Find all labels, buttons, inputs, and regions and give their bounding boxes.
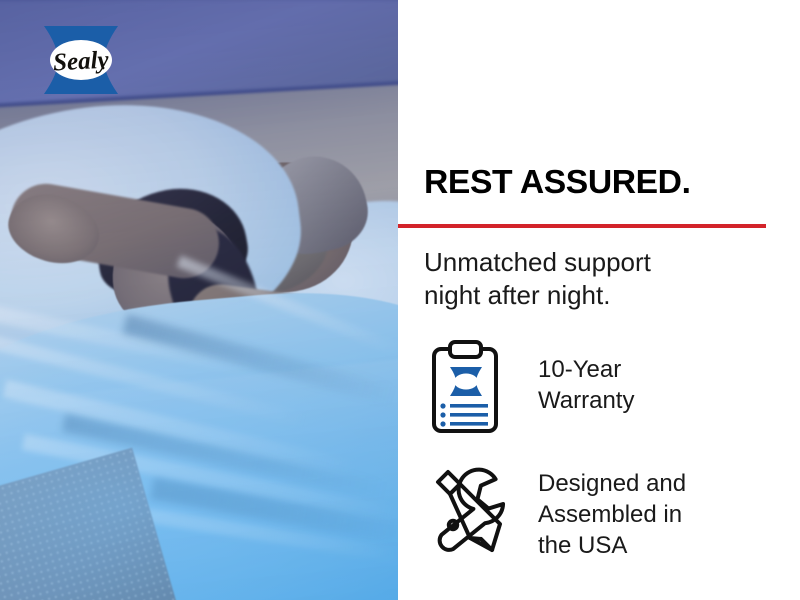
- subheadline-line-2: night after night.: [424, 279, 764, 312]
- feature-usa-line-2: Assembled in: [538, 499, 686, 530]
- feature-usa-label: Designed and Assembled in the USA: [520, 462, 686, 561]
- red-divider-rule: [398, 224, 766, 228]
- copy-panel: REST ASSURED. Unmatched support night af…: [398, 0, 800, 600]
- feature-warranty-line-2: Warranty: [538, 385, 634, 416]
- feature-warranty-label: 10-Year Warranty: [520, 340, 634, 416]
- subheadline: Unmatched support night after night.: [424, 246, 764, 312]
- subheadline-line-1: Unmatched support: [424, 246, 764, 279]
- svg-text:Sealy: Sealy: [52, 47, 110, 77]
- feature-made-in-usa: Designed and Assembled in the USA: [424, 462, 686, 562]
- feature-usa-line-3: the USA: [538, 530, 686, 561]
- sealy-bowtie-logo: Sealy: [42, 24, 120, 96]
- feature-warranty-line-1: 10-Year: [538, 354, 634, 385]
- clipboard-warranty-icon: [424, 340, 520, 440]
- feature-warranty: 10-Year Warranty: [424, 340, 634, 440]
- pencil-wrench-icon: [424, 462, 520, 562]
- feature-usa-line-1: Designed and: [538, 468, 686, 499]
- page-title: REST ASSURED.: [424, 163, 691, 201]
- hero-photo: Sealy: [0, 0, 398, 600]
- ad-creative: Sealy REST ASSURED. Unmatched support ni…: [0, 0, 800, 600]
